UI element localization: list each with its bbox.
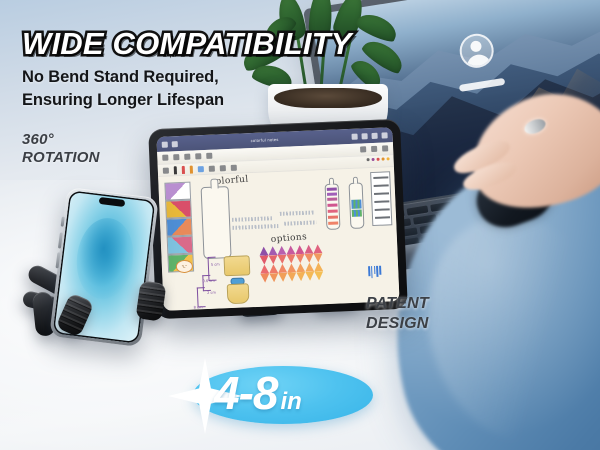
grid-icon[interactable] bbox=[173, 154, 179, 160]
headline: WIDE COMPATIBILITY bbox=[22, 26, 352, 62]
bottle-neck-sketch bbox=[329, 178, 334, 185]
bottle-sketch-dotted bbox=[349, 182, 365, 229]
bottle-neck-sketch bbox=[353, 177, 358, 184]
search-icon[interactable] bbox=[184, 154, 190, 160]
bookmark-icon[interactable] bbox=[195, 153, 201, 159]
measure-label: 0.6 cm bbox=[202, 279, 215, 284]
handwriting-options: options bbox=[270, 232, 307, 245]
patent-callout: PATENT DESIGN bbox=[366, 294, 429, 333]
measure-label: 2 cm bbox=[207, 291, 216, 295]
back-icon[interactable] bbox=[172, 141, 178, 147]
squiggle-line bbox=[232, 224, 278, 230]
image-icon[interactable] bbox=[360, 146, 366, 152]
subheadline: No Bend Stand Required, Ensuring Longer … bbox=[22, 66, 224, 112]
rotation-label: ROTATION bbox=[22, 149, 100, 167]
pot-soil bbox=[274, 88, 382, 108]
squiggle-line bbox=[232, 216, 272, 222]
note-canvas[interactable]: colorful options bbox=[158, 167, 399, 311]
badge-text: 4-8 in bbox=[214, 370, 374, 420]
tablet-screen: colorful notes bbox=[156, 127, 399, 311]
product-banner: colorful notes bbox=[0, 0, 600, 450]
brush-icon[interactable] bbox=[231, 164, 237, 170]
undo-icon[interactable] bbox=[351, 133, 357, 139]
measure-label: 8 cm bbox=[194, 305, 203, 309]
eraser-icon[interactable] bbox=[198, 166, 204, 172]
bottle-sketch-striped bbox=[325, 183, 341, 230]
diamond-pattern-sketch bbox=[164, 182, 194, 273]
tablet-device: colorful notes bbox=[148, 119, 408, 319]
subheadline-line-1: No Bend Stand Required, bbox=[22, 66, 224, 89]
rotation-degrees: 360° bbox=[22, 131, 100, 149]
squiggle-line bbox=[280, 210, 314, 215]
select-icon[interactable] bbox=[163, 167, 169, 173]
pen-tool[interactable] bbox=[174, 166, 177, 174]
chevron-left-icon[interactable] bbox=[162, 155, 168, 161]
text-icon[interactable] bbox=[382, 145, 388, 151]
sticker-icon[interactable] bbox=[371, 146, 377, 152]
subheadline-line-2: Ensuring Longer Lifespan bbox=[22, 89, 224, 112]
redo-icon[interactable] bbox=[361, 133, 367, 139]
app-title: colorful notes bbox=[251, 137, 279, 143]
close-icon[interactable] bbox=[381, 132, 387, 138]
tablet-body: colorful notes bbox=[148, 119, 408, 319]
badge-size-range: 4-8 bbox=[214, 370, 277, 416]
triangle-pattern-sketch bbox=[259, 244, 323, 283]
bottle-sketch-outline bbox=[201, 186, 232, 259]
measure-label: 5 cm bbox=[211, 262, 220, 266]
character-head-sketch bbox=[224, 255, 251, 276]
share-icon[interactable] bbox=[371, 132, 377, 138]
shapes-icon[interactable] bbox=[220, 165, 226, 171]
marker-tool[interactable] bbox=[190, 165, 193, 173]
squiggle-line bbox=[284, 220, 316, 225]
size-badge: 4-8 in bbox=[168, 360, 378, 432]
rotation-callout: 360° ROTATION bbox=[22, 131, 100, 168]
menu-icon[interactable] bbox=[162, 141, 168, 147]
highlighter-tool[interactable] bbox=[182, 165, 185, 173]
blue-scribble-sketch bbox=[368, 266, 381, 279]
patent-line-2: DESIGN bbox=[366, 314, 429, 334]
character-body-sketch bbox=[227, 283, 250, 304]
patent-line-1: PATENT bbox=[366, 294, 429, 314]
lined-box-sketch bbox=[370, 171, 392, 226]
upload-icon[interactable] bbox=[206, 153, 212, 159]
lasso-icon[interactable] bbox=[209, 165, 215, 171]
bottle-neck-sketch bbox=[210, 178, 218, 188]
badge-size-unit: in bbox=[280, 390, 301, 414]
